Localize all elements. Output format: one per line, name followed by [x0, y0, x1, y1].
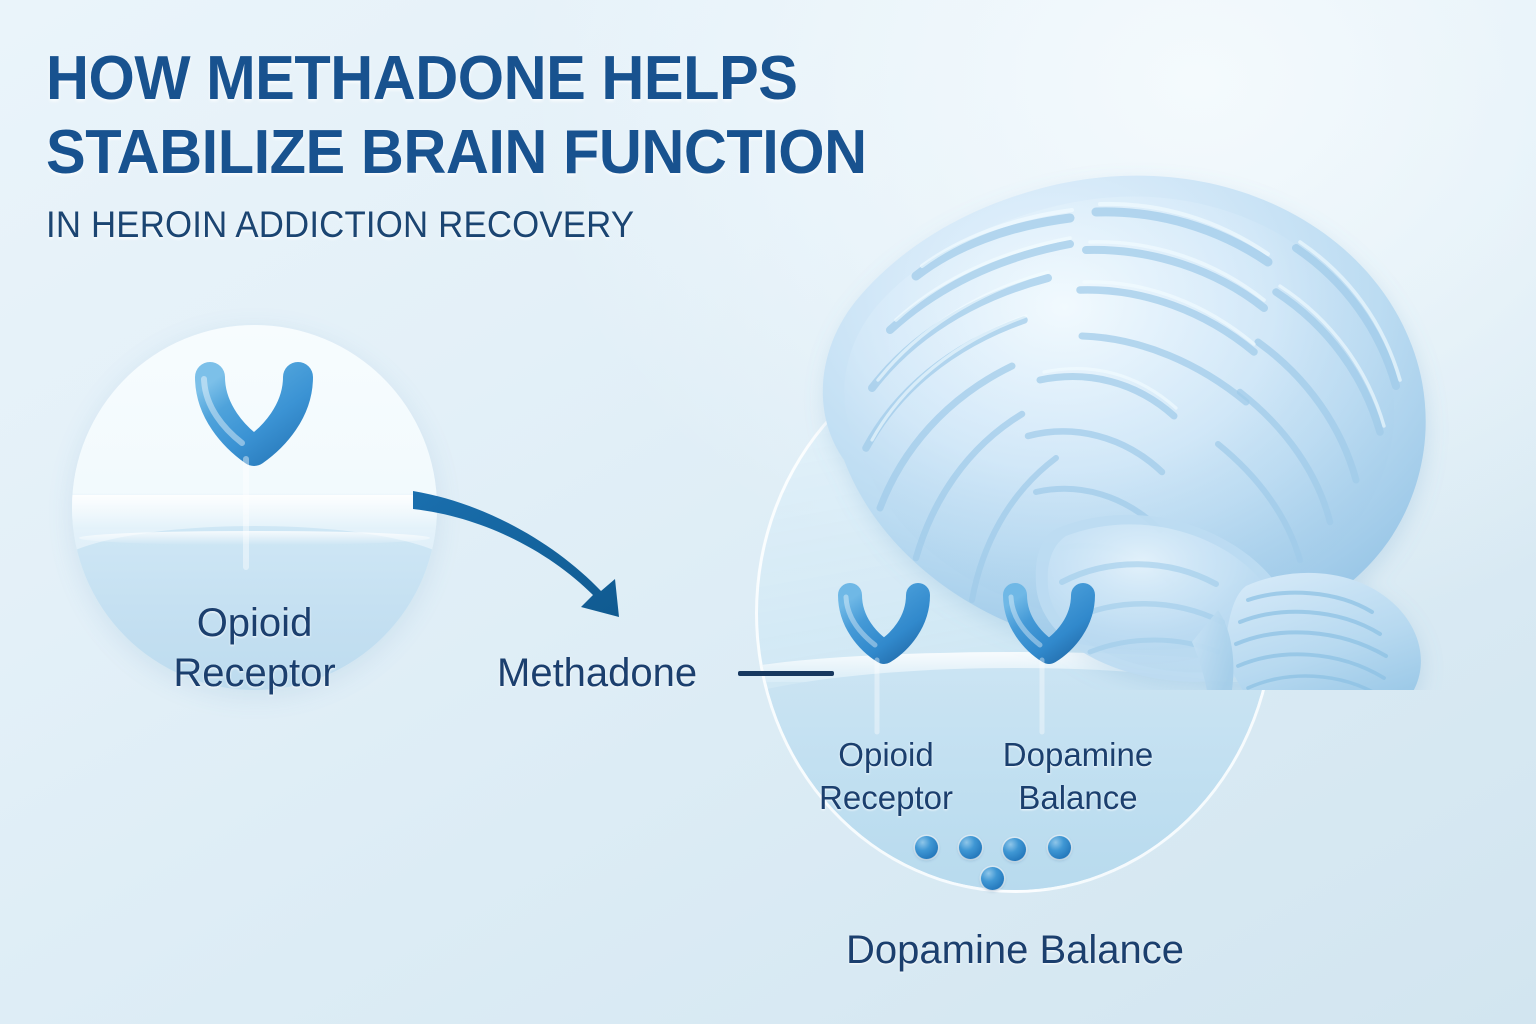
left-opioid-receptor-label: Opioid Receptor: [72, 598, 437, 698]
left-opioid-receptor-label-line-1: Opioid: [72, 598, 437, 648]
methadone-leader-line: [738, 671, 834, 676]
right-dopamine-balance-label-line-1: Dopamine: [978, 733, 1178, 776]
dopamine-molecule-dot: [981, 867, 1004, 890]
y-receptor-icon: [1000, 578, 1098, 756]
dopamine-molecule-dot: [915, 836, 938, 859]
infographic-canvas: HOW METHADONE HELPS STABILIZE BRAIN FUNC…: [0, 0, 1536, 1024]
page-subtitle: IN HEROIN ADDICTION RECOVERY: [46, 203, 948, 247]
left-opioid-receptor-label-line-2: Receptor: [72, 648, 437, 698]
dopamine-molecule-dot: [1003, 838, 1026, 861]
dopamine-molecule-dot: [1048, 836, 1071, 859]
right-opioid-receptor-label-line-2: Receptor: [790, 776, 982, 819]
y-receptor-icon: [835, 578, 933, 756]
methadone-label: Methadone: [497, 648, 697, 698]
dopamine-molecule-dot: [959, 836, 982, 859]
dopamine-balance-caption: Dopamine Balance: [760, 925, 1270, 975]
page-title-line-1: HOW METHADONE HELPS: [46, 42, 968, 116]
y-receptor-icon: [190, 355, 318, 600]
right-dopamine-balance-label-line-2: Balance: [978, 776, 1178, 819]
curved-arrow-icon: [405, 485, 665, 630]
headline-block: HOW METHADONE HELPS STABILIZE BRAIN FUNC…: [46, 42, 1006, 247]
right-opioid-receptor-label-line-1: Opioid: [790, 733, 982, 776]
right-dopamine-balance-label: Dopamine Balance: [978, 733, 1178, 819]
dopamine-molecule-group: [915, 832, 1085, 894]
right-opioid-receptor-label: Opioid Receptor: [790, 733, 982, 819]
page-title-line-2: STABILIZE BRAIN FUNCTION: [46, 116, 968, 190]
